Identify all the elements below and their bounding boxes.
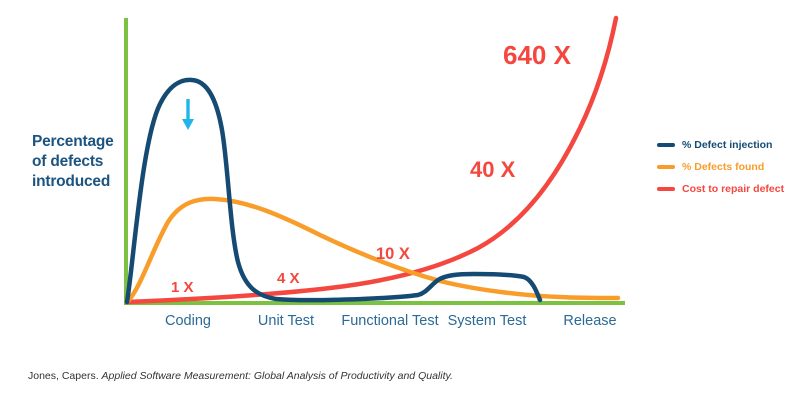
- annotation-4x: 4 X: [277, 270, 300, 287]
- chart-page: Percentage of defects introduced Coding …: [0, 0, 799, 406]
- legend-item-cost-to-repair: Cost to repair defect: [657, 178, 797, 200]
- annotation-640x: 640 X: [503, 40, 571, 71]
- citation-author: Jones, Capers.: [28, 370, 102, 382]
- annotation-1x: 1 X: [171, 279, 194, 296]
- annotation-10x: 10 X: [376, 245, 410, 264]
- legend-swatch-defect-injection: [657, 143, 675, 147]
- down-arrow-icon: [182, 99, 194, 130]
- citation-title: Applied Software Measurement: Global Ana…: [102, 370, 453, 382]
- citation: Jones, Capers. Applied Software Measurem…: [28, 370, 453, 382]
- legend-label-cost-to-repair: Cost to repair defect: [682, 183, 784, 195]
- annotation-40x: 40 X: [470, 157, 515, 183]
- legend-swatch-defects-found: [657, 165, 675, 169]
- x-tick-unit-test: Unit Test: [231, 313, 341, 330]
- x-tick-functional-test: Functional Test: [335, 313, 445, 330]
- legend-item-defects-found: % Defects found: [657, 156, 797, 178]
- legend-label-defect-injection: % Defect injection: [682, 139, 772, 151]
- x-tick-system-test: System Test: [432, 313, 542, 330]
- legend-item-defect-injection: % Defect injection: [657, 134, 797, 156]
- series-line-defects-found: [127, 199, 618, 302]
- x-tick-coding: Coding: [133, 313, 243, 330]
- legend-label-defects-found: % Defects found: [682, 161, 764, 173]
- x-tick-release: Release: [535, 313, 645, 330]
- defect-cost-chart: [0, 0, 799, 406]
- chart-legend: % Defect injection % Defects found Cost …: [657, 134, 797, 200]
- legend-swatch-cost-to-repair: [657, 187, 675, 191]
